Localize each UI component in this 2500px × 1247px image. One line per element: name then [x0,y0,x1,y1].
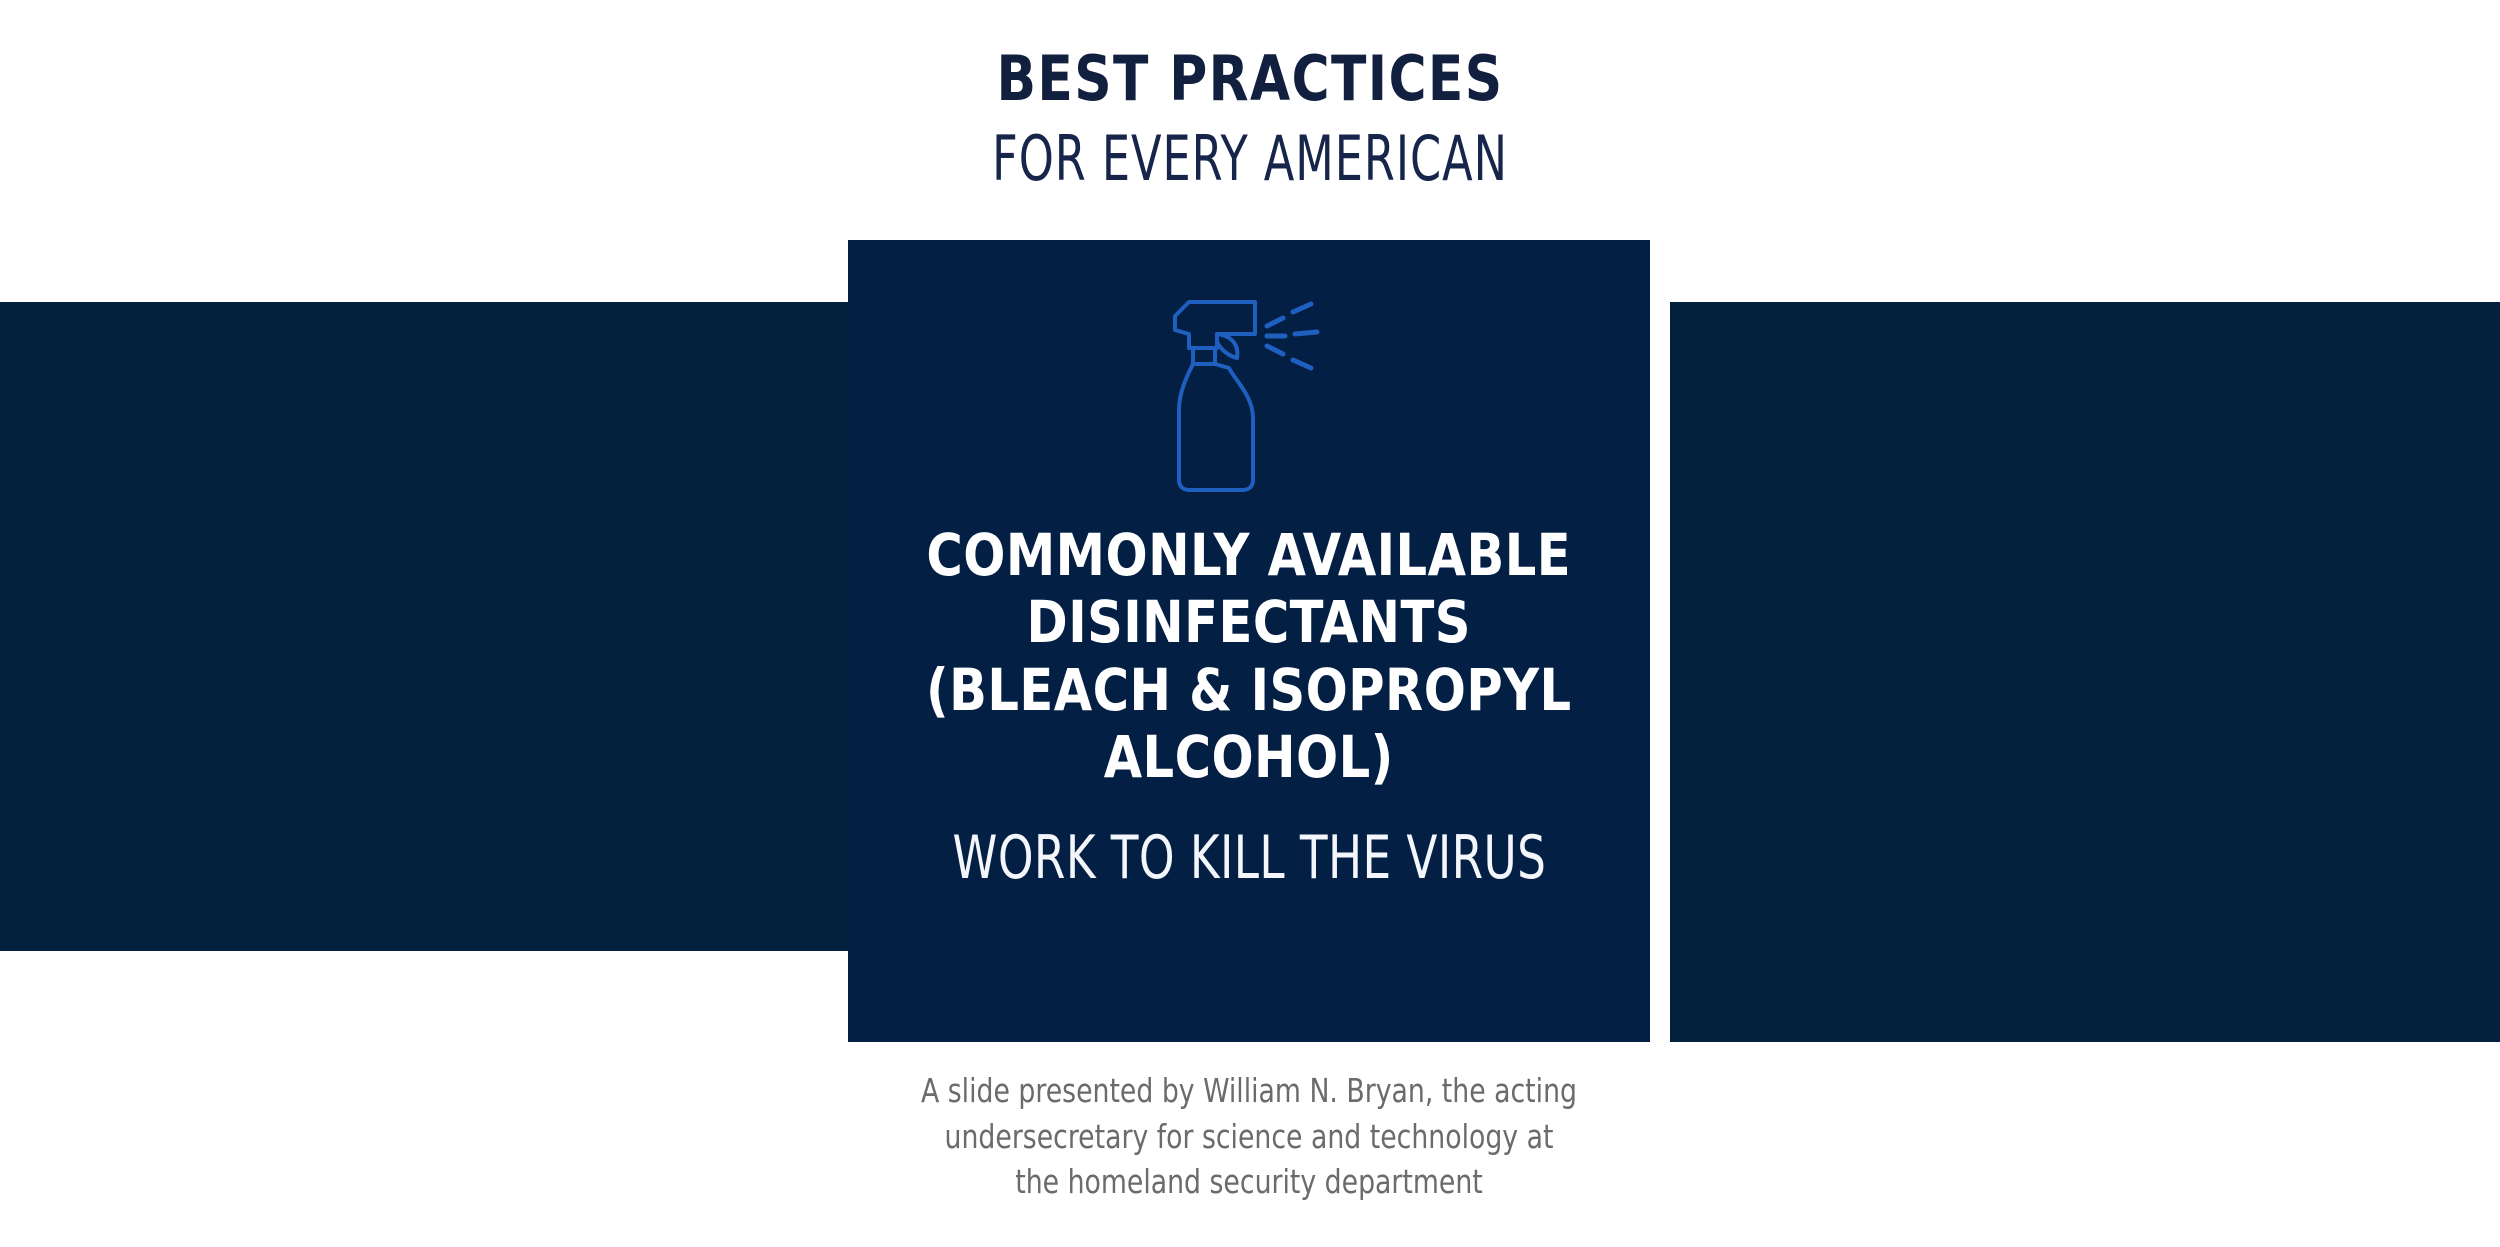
headline-line: (BLEACH & ISOPROPYL [926,656,1572,724]
right-navy-band [1670,302,2500,1042]
header-block: BEST PRACTICES FOR EVERY AMERICAN [0,48,2500,190]
card-headline: COMMONLY AVAILABLEDISINFECTANTS(BLEACH &… [926,522,1572,791]
caption-line: undersecretary for science and technolog… [888,1114,1610,1160]
left-navy-band [0,302,848,951]
slide-canvas: BEST PRACTICES FOR EVERY AMERICAN [0,0,2500,1247]
caption-line: A slide presented by William N. Bryan, t… [888,1068,1610,1114]
page-title: BEST PRACTICES [88,48,2413,110]
page-subtitle: FOR EVERY AMERICAN [250,128,2250,190]
card-subline: WORK TO KILL THE VIRUS [952,825,1546,891]
spray-bottle-icon [1159,268,1339,498]
headline-line: DISINFECTANTS [1027,588,1471,656]
caption-line: the homeland security department [888,1159,1610,1205]
caption-block: A slide presented by William N. Bryan, t… [888,1068,1610,1205]
headline-line: ALCOHOL) [1104,723,1394,791]
headline-line: COMMONLY AVAILABLE [927,521,1572,589]
slide-card: COMMONLY AVAILABLEDISINFECTANTS(BLEACH &… [848,240,1650,1042]
